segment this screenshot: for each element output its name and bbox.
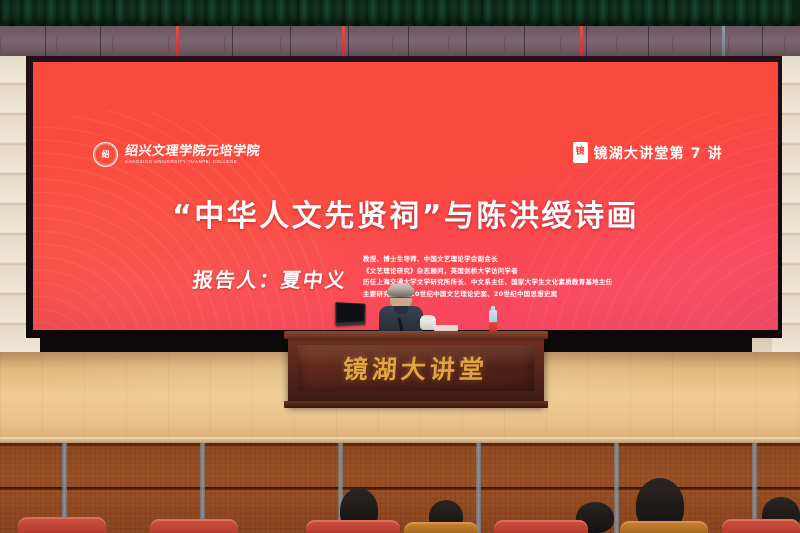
university-name-cn: 绍兴文理学院元培学院 xyxy=(124,145,260,158)
university-logo: 绍 绍兴文理学院元培学院 SHAOXING UNIVERSITY YUANPEI… xyxy=(93,142,260,167)
audience-seat xyxy=(494,520,588,533)
stage-curtain xyxy=(0,0,800,28)
podium-base-rail xyxy=(284,401,548,408)
speaker-hair xyxy=(388,283,414,298)
lecture-title: “中华人文先贤祠”与陈洪绶诗画 xyxy=(33,200,778,234)
bio-line: 《文艺理论研究》杂志顾问，英国剑桥大学访问学者 xyxy=(363,266,723,278)
audience-seat xyxy=(404,522,478,533)
lecture-series-mark-icon: 镜 xyxy=(573,142,588,163)
audience-seat xyxy=(722,519,800,533)
university-name-en: SHAOXING UNIVERSITY YUANPEI COLLEGE xyxy=(125,159,260,164)
wall-light-strip xyxy=(176,26,179,60)
upper-wall-panels xyxy=(0,26,800,60)
auditorium-photo: 绍 绍兴文理学院元培学院 SHAOXING UNIVERSITY YUANPEI… xyxy=(0,0,800,533)
podium-plaque-text: 镜湖大讲堂 xyxy=(342,350,490,386)
wall-light-strip xyxy=(342,26,345,60)
speaker-collar xyxy=(394,306,408,314)
audience-seat xyxy=(306,520,400,533)
laptop-icon xyxy=(335,302,365,326)
podium-top-rail xyxy=(284,331,548,339)
podium: 镜湖大讲堂 xyxy=(288,335,544,405)
speaker-label: 报告人：夏中义 xyxy=(191,268,348,292)
podium-panel: 镜湖大讲堂 xyxy=(298,345,534,391)
bio-line: 教授、博士生导师、中国文艺理论学会副会长 xyxy=(363,254,723,266)
speaker-glasses xyxy=(390,297,412,302)
university-seal-icon: 绍 xyxy=(93,142,118,167)
wall-light-strip xyxy=(722,26,725,60)
wall-chevron-pattern xyxy=(0,38,800,50)
audience-seat xyxy=(150,519,238,533)
lecture-series-label: 镜湖大讲堂第 7 讲 xyxy=(594,143,724,163)
water-bottle-icon xyxy=(489,310,497,332)
audience-seat xyxy=(620,521,708,533)
lecture-series-badge: 镜 镜湖大讲堂第 7 讲 xyxy=(573,142,724,163)
wall-light-strip xyxy=(580,26,583,60)
audience-seat xyxy=(18,517,106,533)
